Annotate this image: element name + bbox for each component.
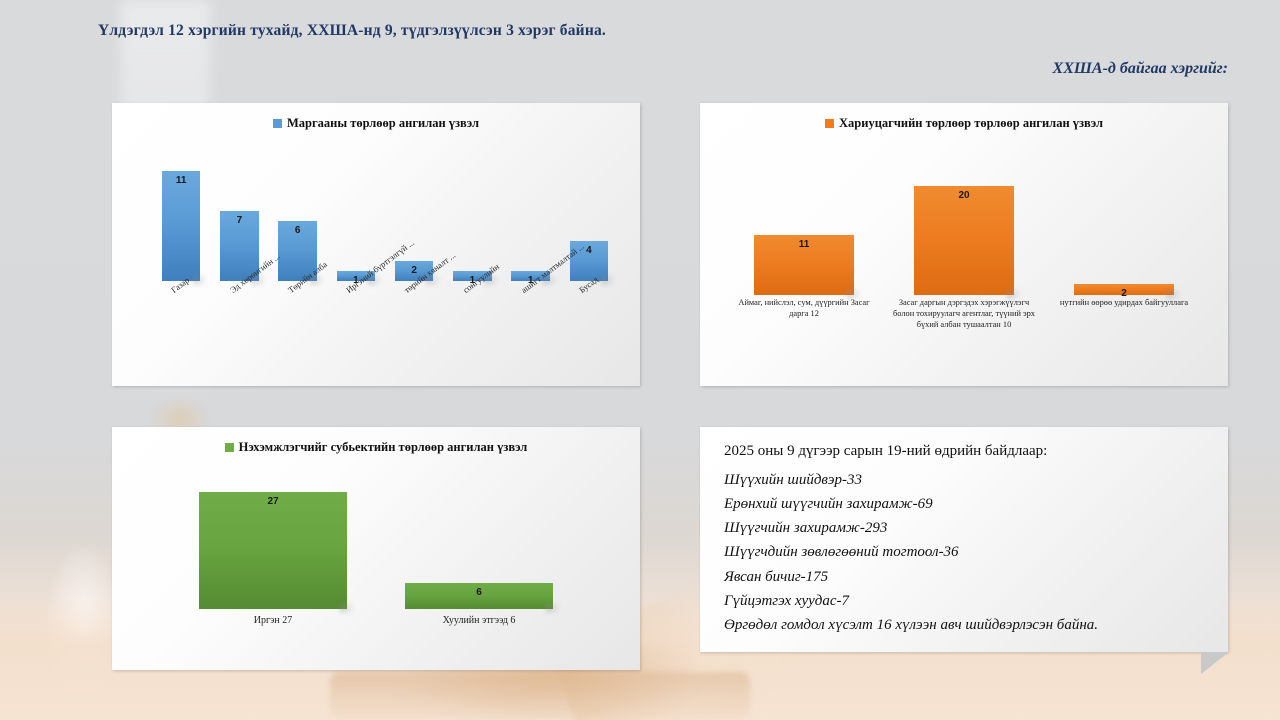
x-axis-label: нутгийн өөрөө удирдах байгууллага [1044, 297, 1204, 330]
bar-value-label: 4 [586, 245, 592, 256]
bar-value-label: 20 [958, 190, 969, 201]
bar-value-label: 11 [799, 239, 810, 250]
legend-label: Нэхэмжлэгчийг субьектийн төрлөөр ангилан… [239, 440, 528, 454]
x-axis-labels-disputes: ГазарЭд хөрөнгийн ...Төрийн албаИргэний … [152, 285, 618, 365]
page-subtitle: ХХША-д байгаа хэргийг: [1053, 60, 1228, 78]
chart-panel-respondents: Хариуцагчийн төрлөөр төрлөөр ангилан үзв… [700, 103, 1228, 386]
summary-text-body: 2025 оны 9 дүгээр сарын 19-ний өдрийн ба… [724, 440, 1212, 638]
bar-value-label: 2 [411, 265, 417, 276]
page-fold-corner [1201, 652, 1229, 674]
bar-value-label: 27 [267, 496, 278, 507]
summary-intro-line: 2025 оны 9 дүгээр сарын 19-ний өдрийн ба… [724, 440, 1212, 463]
x-axis-label: Иргэн 27 [170, 615, 376, 626]
bar-value-label: 6 [476, 587, 482, 598]
legend-label: Маргааны төрлөөр ангилан үзвэл [287, 116, 479, 130]
bar-value-label: 11 [176, 175, 187, 186]
bar-slot: 27 [170, 479, 376, 609]
bar-slot: 11 [724, 175, 884, 295]
gavel-block-decoration [330, 672, 750, 720]
x-axis-labels-claimants: Иргэн 27Хуулийн этгээд 6 [170, 615, 582, 626]
plot-area-respondents: 11202 [724, 175, 1204, 295]
bar-value-label: 7 [237, 215, 243, 226]
summary-line: Өргөдөл гомдол хүсэлт 16 хүлээн авч шийд… [724, 613, 1212, 637]
summary-line: Шүүхийн шийдвэр-33 [724, 468, 1212, 492]
bar-slot: 11 [152, 161, 210, 281]
bar: 11 [754, 235, 853, 295]
bar-chart-disputes: Маргааны төрлөөр ангилан үзвэл 117612114… [112, 103, 640, 386]
bar-slot: 6 [376, 479, 582, 609]
bar-value-label: 6 [295, 225, 301, 236]
bar: 11 [162, 171, 200, 281]
x-axis-label: Засаг даргын дэргэдэх хэрэгжүүлэгч болон… [884, 297, 1044, 330]
summary-line: Ерөнхий шүүгчийн захирамж-69 [724, 492, 1212, 516]
bar-chart-claimants: Нэхэмжлэгчийг субьектийн төрлөөр ангилан… [112, 427, 640, 670]
bar: 6 [405, 583, 553, 609]
bar-group-claimants: 276 [170, 479, 582, 609]
summary-panel: 2025 оны 9 дүгээр сарын 19-ний өдрийн ба… [700, 427, 1228, 652]
chart-legend-disputes: Маргааны төрлөөр ангилан үзвэл [112, 116, 640, 131]
summary-line: Явсан бичиг-175 [724, 565, 1212, 589]
bar-group-respondents: 11202 [724, 175, 1204, 295]
chart-panel-claimants: Нэхэмжлэгчийг субьектийн төрлөөр ангилан… [112, 427, 640, 670]
x-axis-label: Аймаг, нийслэл, сум, дүүргийн Засаг дарг… [724, 297, 884, 330]
bar-slot: 20 [884, 175, 1044, 295]
legend-swatch-blue [273, 119, 282, 128]
bar-chart-respondents: Хариуцагчийн төрлөөр төрлөөр ангилан үзв… [700, 103, 1228, 386]
plot-area-claimants: 276 [170, 479, 582, 609]
x-axis-label: Хуулийн этгээд 6 [376, 615, 582, 626]
x-axis-labels-respondents: Аймаг, нийслэл, сум, дүүргийн Засаг дарг… [724, 297, 1204, 330]
legend-swatch-green [225, 443, 234, 452]
summary-line-list: Шүүхийн шийдвэр-33Ерөнхий шүүгчийн захир… [724, 468, 1212, 638]
chart-legend-claimants: Нэхэмжлэгчийг субьектийн төрлөөр ангилан… [112, 440, 640, 455]
summary-line: Шүүгчийн захирамж-293 [724, 516, 1212, 540]
chart-legend-respondents: Хариуцагчийн төрлөөр төрлөөр ангилан үзв… [700, 116, 1228, 131]
bar-slot: 4 [560, 161, 618, 281]
legend-label: Хариуцагчийн төрлөөр төрлөөр ангилан үзв… [839, 116, 1103, 130]
scales-stand-decoration [48, 548, 120, 708]
bar-slot: 2 [1044, 175, 1204, 295]
chart-panel-disputes: Маргааны төрлөөр ангилан үзвэл 117612114… [112, 103, 640, 386]
bar: 20 [914, 186, 1013, 295]
summary-line: Гүйцэтгэх хуудас-7 [724, 589, 1212, 613]
bar: 2 [1074, 284, 1173, 295]
summary-line: Шүүгчдийн зөвлөгөөний тогтоол-36 [724, 540, 1212, 564]
bar: 27 [199, 492, 347, 609]
legend-swatch-orange [825, 119, 834, 128]
page-title: Үлдэгдэл 12 хэргийн тухайд, ХХША-нд 9, т… [98, 22, 606, 40]
